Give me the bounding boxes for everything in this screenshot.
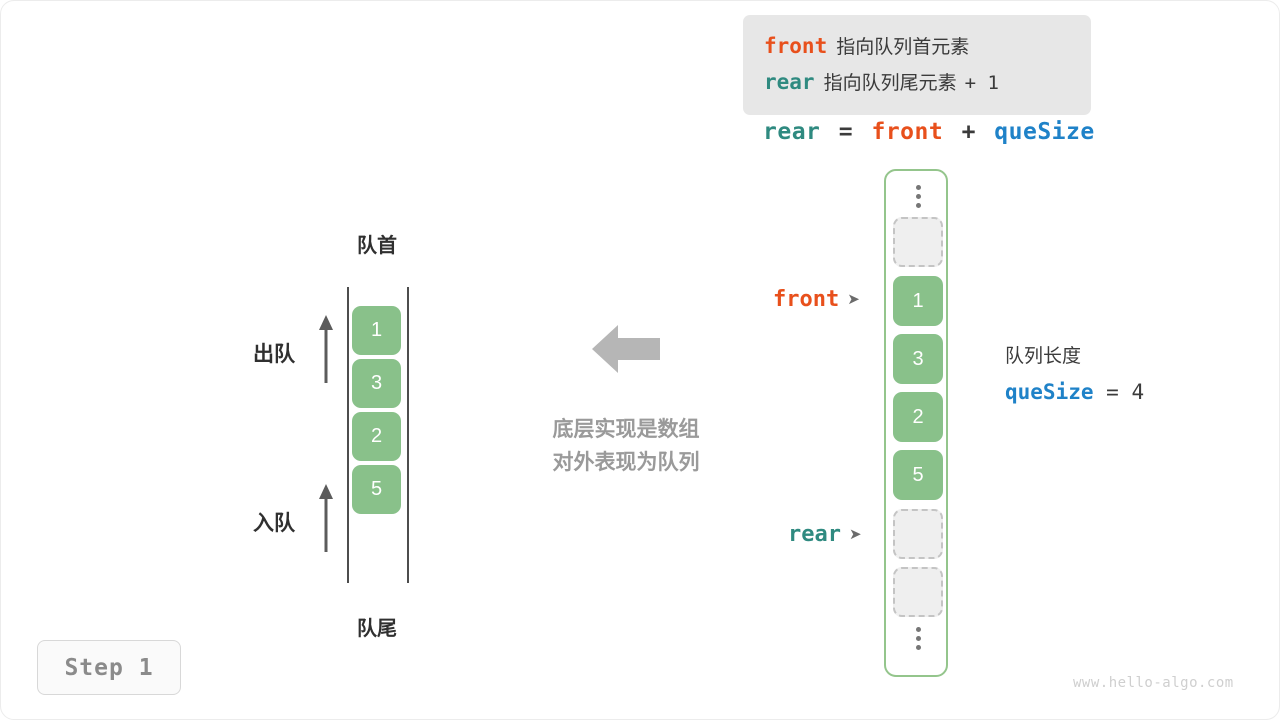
queue-cell[interactable]: 3 (352, 359, 401, 408)
array-bottom-ellipsis (886, 623, 950, 654)
array-cell-filled[interactable]: 5 (893, 450, 943, 500)
queue-tail-label: 队尾 (346, 612, 408, 641)
queue-cell[interactable]: 2 (352, 412, 401, 461)
pointer-rear: rear ➤ (788, 522, 862, 547)
watermark: www.hello-algo.com (1073, 675, 1234, 691)
queue-cell[interactable]: 1 (352, 306, 401, 355)
formula-lhs: rear (763, 119, 820, 145)
array-cell-value: 2 (912, 406, 923, 429)
ellipsis-dot (916, 636, 921, 641)
legend-desc-front: 指向队列首元素 (836, 37, 969, 58)
middle-caption: 底层实现是数组 对外表现为队列 (501, 413, 751, 479)
legend-keyword-rear: rear (764, 70, 815, 94)
array-cell-empty[interactable] (893, 509, 943, 559)
enqueue-label: 入队 (253, 507, 295, 537)
formula-plus: + (962, 119, 976, 145)
ellipsis-dot (916, 203, 921, 208)
array-top-ellipsis (886, 181, 950, 212)
queue-rail-right (407, 287, 409, 583)
ellipsis-dot (916, 194, 921, 199)
legend-keyword-front: front (764, 34, 827, 58)
legend-line-front: front指向队列首元素 (764, 28, 1091, 64)
queue-cell[interactable]: 5 (352, 465, 401, 514)
legend-suffix-rear: + 1 (965, 72, 999, 94)
array-cell-value: 3 (912, 348, 923, 371)
formula-rear-equals: rear = front + queSize (761, 119, 1097, 145)
quesize-title: 队列长度 (1005, 341, 1144, 368)
formula-equals: = (839, 119, 853, 145)
queue-cell-value: 1 (371, 319, 382, 342)
queue-cell-value: 5 (371, 478, 382, 501)
pointer-front-label: front (773, 287, 839, 312)
array-cell-empty[interactable] (893, 567, 943, 617)
quesize-expression: queSize = 4 (1005, 380, 1144, 404)
queue-cell-value: 2 (371, 425, 382, 448)
dequeue-arrow-icon (315, 313, 337, 385)
dequeue-label: 出队 (253, 338, 295, 368)
quesize-value: 4 (1131, 380, 1144, 404)
array-cell-filled[interactable]: 2 (893, 392, 943, 442)
queue-rail-left (347, 287, 349, 583)
legend-desc-rear: 指向队列尾元素 (824, 73, 957, 94)
diagram-canvas: front指向队列首元素 rear指向队列尾元素+ 1 rear = front… (0, 0, 1280, 720)
queue-cell-value: 3 (371, 372, 382, 395)
legend-line-rear: rear指向队列尾元素+ 1 (764, 64, 1091, 100)
ellipsis-dot (916, 627, 921, 632)
ellipsis-dot (916, 645, 921, 650)
caption-line-1: 底层实现是数组 (501, 413, 751, 446)
quesize-name: queSize (1005, 380, 1094, 404)
array-cell-value: 1 (912, 290, 923, 313)
left-arrow-icon (592, 323, 660, 375)
pointer-arrow-icon: ➤ (847, 292, 860, 307)
pointer-front: front ➤ (773, 287, 860, 312)
formula-rhs-front: front (871, 119, 943, 145)
array-cell-filled[interactable]: 1 (893, 276, 943, 326)
legend-box: front指向队列首元素 rear指向队列尾元素+ 1 (743, 15, 1091, 115)
pointer-rear-label: rear (788, 522, 841, 547)
caption-line-2: 对外表现为队列 (501, 446, 751, 479)
quesize-equals: = (1106, 380, 1119, 404)
formula-rhs-quesize: queSize (994, 119, 1094, 145)
pointer-arrow-icon: ➤ (849, 527, 862, 542)
queue-head-label: 队首 (346, 229, 408, 258)
array-cell-filled[interactable]: 3 (893, 334, 943, 384)
step-badge: Step 1 (37, 640, 181, 695)
enqueue-arrow-icon (315, 482, 337, 554)
array-container: 1 3 2 5 (884, 169, 948, 677)
quesize-note: 队列长度 queSize = 4 (1005, 341, 1144, 404)
ellipsis-dot (916, 185, 921, 190)
array-cell-empty[interactable] (893, 217, 943, 267)
array-cell-value: 5 (912, 464, 923, 487)
